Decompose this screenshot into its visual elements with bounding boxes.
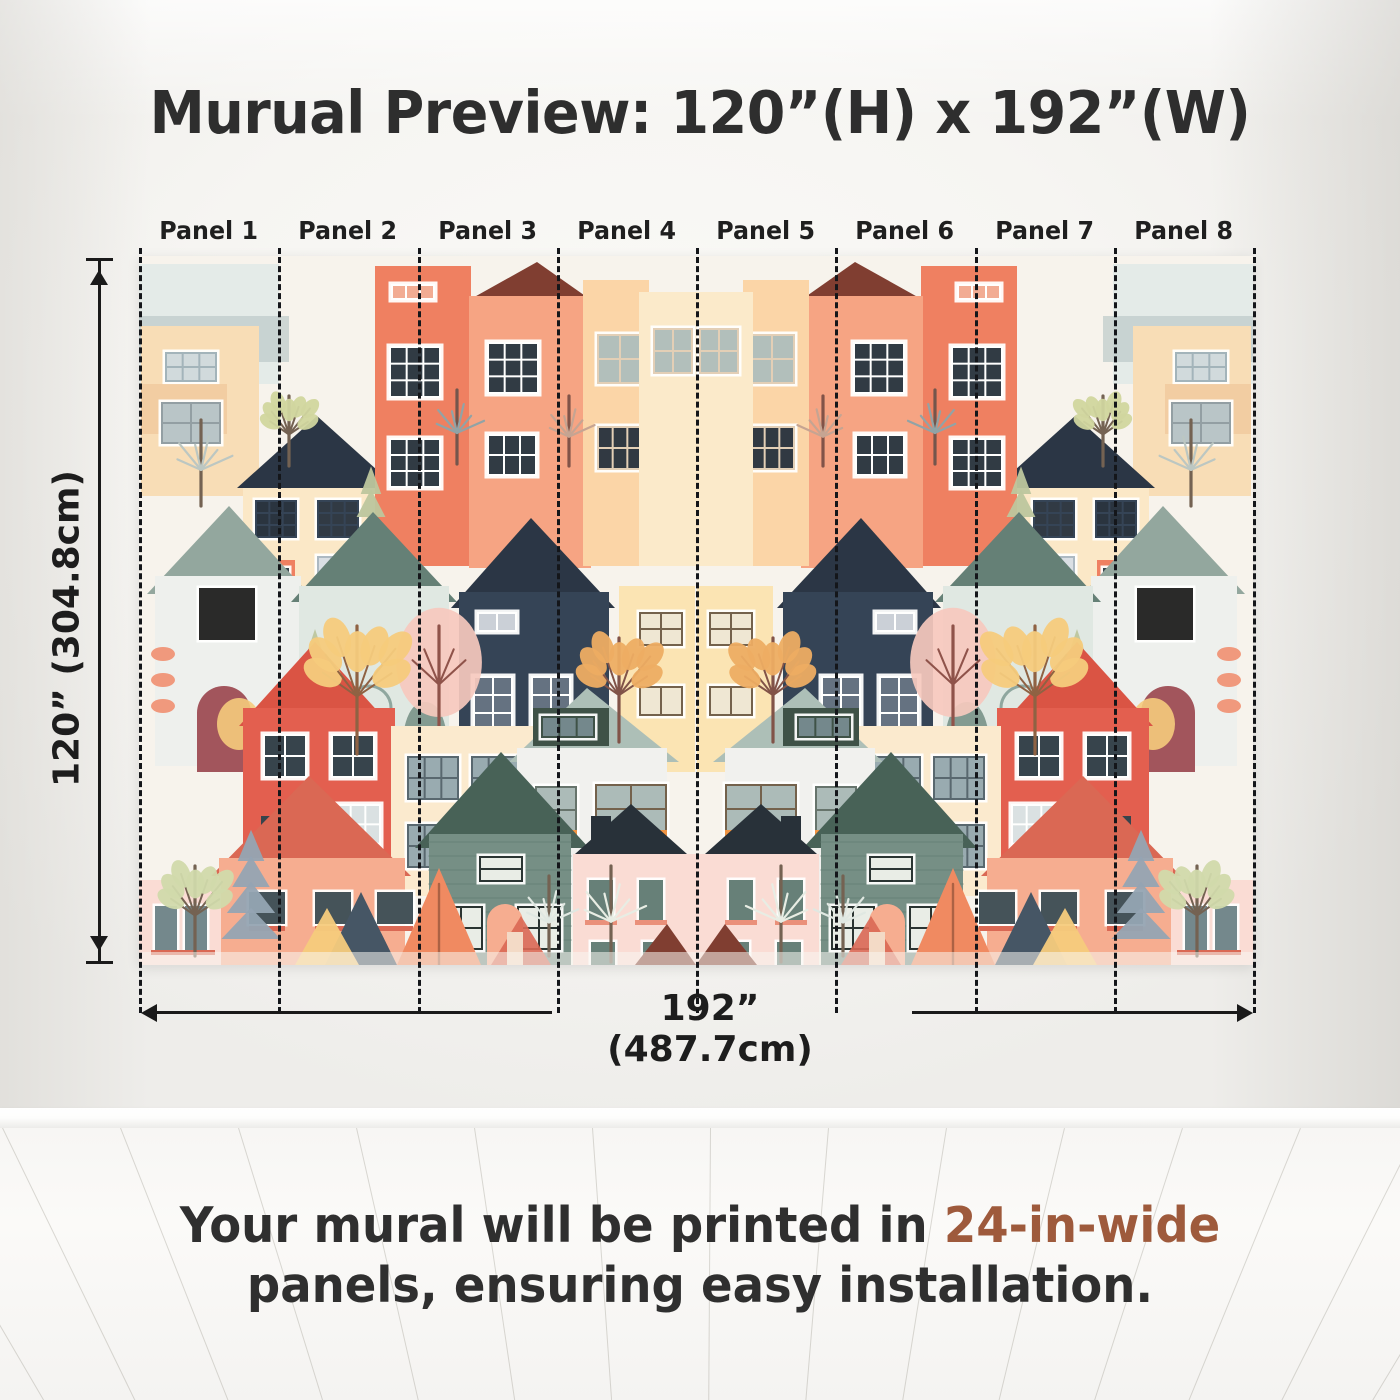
panel-label-5: Panel 5 bbox=[699, 216, 831, 245]
height-arrow-up bbox=[90, 270, 108, 285]
panel-guide-5 bbox=[835, 248, 838, 1013]
panel-guide-4 bbox=[696, 248, 699, 1013]
page-title: Murual Preview: 120”(H) x 192”(W) bbox=[42, 78, 1358, 147]
panel-guide-3 bbox=[557, 248, 560, 1013]
panel-label-6: Panel 6 bbox=[839, 216, 971, 245]
width-arrow-right bbox=[1237, 1004, 1253, 1022]
panel-guide-1 bbox=[278, 248, 281, 1013]
height-label: 120” (304.8cm) bbox=[47, 459, 88, 799]
caption-line2: panels, ensuring easy installation. bbox=[247, 1257, 1153, 1314]
height-cap-bottom bbox=[86, 961, 113, 964]
baseboard bbox=[0, 1108, 1400, 1130]
panel-label-8: Panel 8 bbox=[1117, 216, 1249, 245]
panel-guide-6 bbox=[975, 248, 978, 1013]
floor-plank bbox=[1366, 1128, 1400, 1400]
caption-accent: 24-in-wide bbox=[944, 1197, 1220, 1254]
panel-label-4: Panel 4 bbox=[560, 216, 692, 245]
installation-caption: Your mural will be printed in 24-in-wide… bbox=[35, 1196, 1365, 1316]
panel-label-7: Panel 7 bbox=[978, 216, 1110, 245]
panel-guide-8 bbox=[1253, 248, 1256, 1013]
width-label: 192” (487.7cm) bbox=[560, 988, 860, 1070]
panel-guide-0 bbox=[139, 248, 142, 1013]
height-dimension-line bbox=[98, 258, 101, 963]
height-arrow-down bbox=[90, 936, 108, 951]
panel-label-3: Panel 3 bbox=[421, 216, 553, 245]
panel-guide-2 bbox=[418, 248, 421, 1013]
panel-guide-7 bbox=[1114, 248, 1117, 1013]
width-arrow-left bbox=[141, 1004, 157, 1022]
width-dimension-line-right bbox=[912, 1011, 1240, 1014]
caption-line1-pre: Your mural will be printed in bbox=[180, 1197, 944, 1254]
panel-label-1: Panel 1 bbox=[142, 216, 274, 245]
panel-label-2: Panel 2 bbox=[282, 216, 414, 245]
mural-preview-scene: Murual Preview: 120”(H) x 192”(W) Panel … bbox=[0, 0, 1400, 1400]
height-cap-top bbox=[86, 258, 113, 261]
width-dimension-line-left bbox=[152, 1011, 552, 1014]
